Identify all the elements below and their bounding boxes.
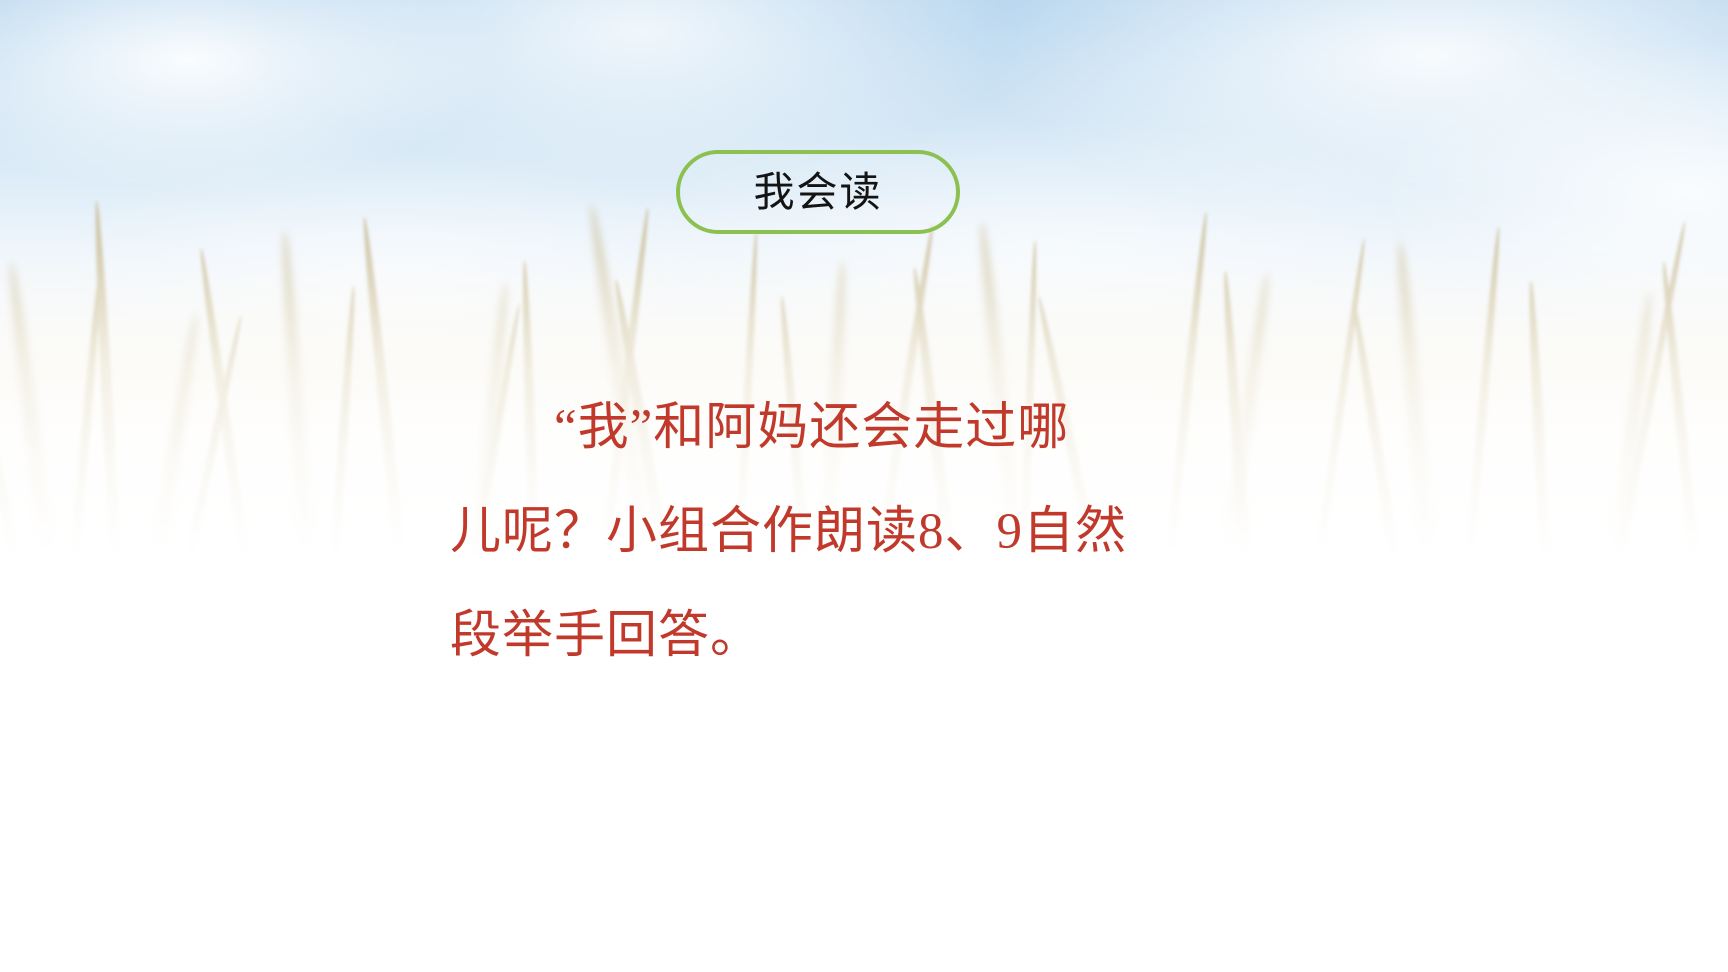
instruction-text: “我”和阿妈还会走过哪 儿呢？小组合作朗读8、9自然 段举手回答。	[450, 376, 1250, 688]
cloud-shape	[980, 0, 1728, 220]
instruction-line-2: 儿呢？小组合作朗读8、9自然	[450, 480, 1250, 584]
slide-canvas: 我会读 “我”和阿妈还会走过哪 儿呢？小组合作朗读8、9自然 段举手回答。	[0, 0, 1728, 972]
cloud-shape	[0, 0, 500, 190]
instruction-line-3: 段举手回答。	[450, 584, 1250, 688]
section-badge: 我会读	[676, 150, 960, 234]
instruction-line-1: “我”和阿妈还会走过哪	[450, 376, 1250, 480]
section-badge-label: 我会读	[754, 172, 883, 213]
